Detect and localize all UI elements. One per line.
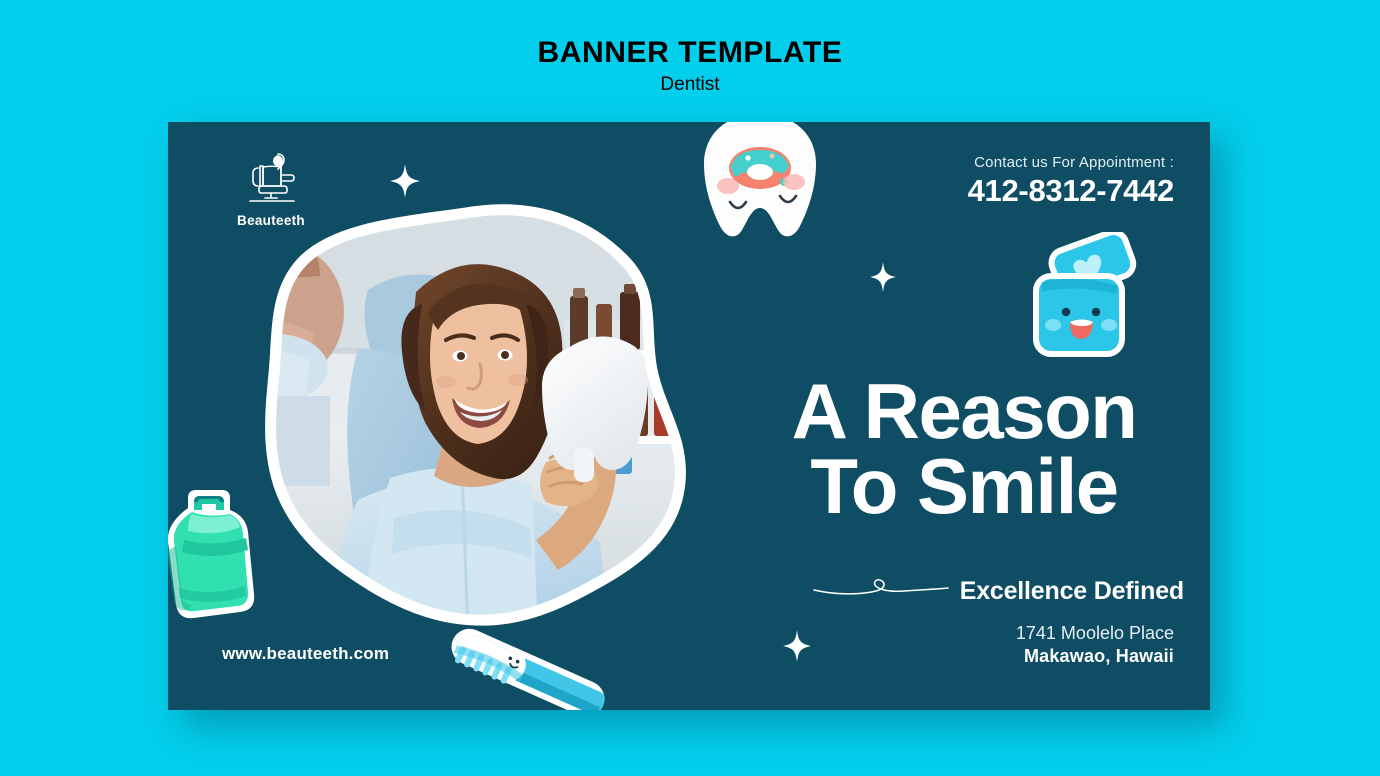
sparkle-star-icon	[390, 164, 420, 203]
floss-box-character-icon	[1020, 232, 1144, 365]
website-url[interactable]: www.beauteeth.com	[222, 644, 389, 664]
toothbrush-character-icon	[440, 622, 610, 710]
headline: A Reason To Smile	[734, 374, 1194, 524]
headline-line-2: To Smile	[734, 449, 1194, 524]
tagline-row: Excellence Defined	[764, 574, 1184, 609]
page-header: BANNER TEMPLATE Dentist	[0, 36, 1380, 96]
contact-label: Contact us For Appointment :	[968, 154, 1174, 171]
tagline-text: Excellence Defined	[960, 577, 1184, 606]
contact-block: Contact us For Appointment : 412-8312-74…	[968, 154, 1174, 209]
page-subtitle: Dentist	[0, 75, 1380, 96]
sparkle-star-icon	[870, 262, 896, 297]
address-line-1: 1741 Moolelo Place	[1016, 622, 1174, 645]
banner-card: Beauteeth Contact us For Appointment : 4…	[168, 122, 1210, 710]
address-line-2: Makawao, Hawaii	[1016, 645, 1174, 668]
page-title: BANNER TEMPLATE	[0, 36, 1380, 69]
mouthwash-bottle-icon	[168, 472, 268, 627]
tooth-character-icon	[698, 122, 822, 247]
address-block: 1741 Moolelo Place Makawao, Hawaii	[1016, 622, 1174, 667]
sparkle-star-icon	[783, 630, 811, 667]
headline-line-1: A Reason	[734, 374, 1194, 449]
hero-photo	[240, 200, 700, 630]
loop-squiggle-divider-icon	[812, 574, 950, 605]
contact-phone[interactable]: 412-8312-7442	[968, 173, 1174, 209]
